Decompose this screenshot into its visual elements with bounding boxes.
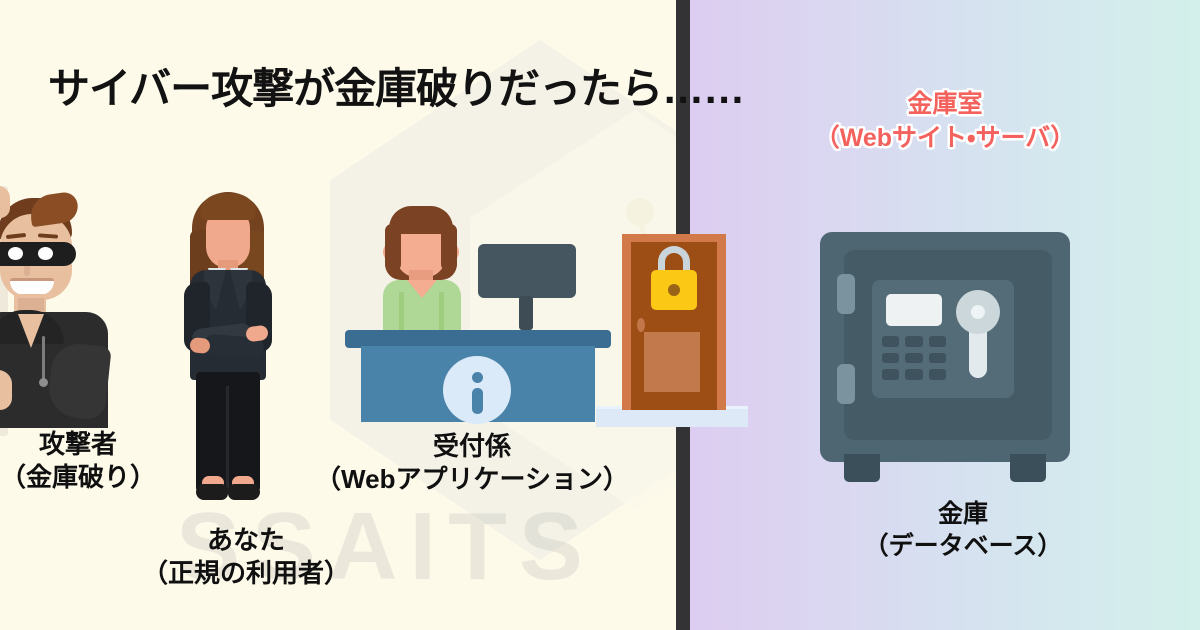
safe-keypad (882, 336, 946, 380)
safe-key (929, 369, 946, 380)
attacker-nose (24, 266, 30, 276)
receptionist-hair-side-left (385, 224, 401, 272)
safe-foot-left (844, 454, 880, 482)
reception-caption: 受付係 （Webアプリケーション） (312, 430, 632, 497)
safe-caption: 金庫 （データベース） (838, 498, 1088, 562)
receptionist-hair-side-right (441, 224, 457, 272)
locked-door-figure (622, 234, 726, 410)
attacker-grin (10, 278, 54, 295)
padlock-keyhole (668, 284, 680, 296)
monitor-stand (519, 296, 533, 330)
infographic-canvas: SSAITS サイバー攻撃が金庫破りだったら…… 金庫室 （Webサイト・サーバ… (0, 0, 1200, 630)
safe-key (882, 369, 899, 380)
attacker-hand-upper (0, 186, 10, 218)
user-trouser-seam (226, 386, 229, 490)
user-shoe-right (228, 484, 260, 500)
attacker-caption-line1: 攻撃者 (0, 428, 168, 461)
user-shoe-left (196, 484, 228, 500)
legitimate-user-figure (168, 186, 288, 504)
attacker-hair-sweep (28, 191, 80, 227)
user-hair-front (200, 194, 256, 220)
safe-display-screen (886, 294, 942, 326)
attacker-hoodie-string (42, 336, 45, 382)
safe-key (905, 336, 922, 347)
safe-key (905, 353, 922, 364)
reception-desk-figure (345, 196, 615, 424)
attacker-caption: 攻撃者 （金庫破り） (0, 428, 168, 495)
safe-key (905, 369, 922, 380)
information-icon-dot (472, 372, 483, 383)
user-caption-line2: （正規の利用者） (86, 557, 406, 590)
reception-caption-line2: （Webアプリケーション） (312, 463, 632, 496)
door-knob (637, 318, 645, 332)
vault-room-title-line2: （Webサイト・サーバ） (690, 122, 1200, 156)
user-caption-line1: あなた (86, 524, 406, 557)
safe-figure (820, 232, 1070, 488)
safe-dial-center (971, 305, 985, 319)
safe-hinge-bottom (837, 364, 855, 404)
safe-caption-line2: （データベース） (838, 530, 1088, 562)
safe-key (882, 336, 899, 347)
safe-key (929, 336, 946, 347)
attacker-figure (0, 186, 119, 426)
safe-key (929, 353, 946, 364)
attacker-eye-right (38, 247, 53, 260)
safe-caption-line1: 金庫 (838, 498, 1088, 530)
reception-caption-line1: 受付係 (312, 430, 632, 463)
legitimate-user-caption: あなた （正規の利用者） (86, 524, 406, 591)
monitor-icon (478, 244, 576, 298)
information-icon-stem (472, 388, 483, 414)
attacker-hoodie-string-knot (39, 378, 48, 387)
vault-room-title-line1: 金庫室 (690, 88, 1200, 122)
safe-key (882, 353, 899, 364)
attacker-caption-line2: （金庫破り） (0, 461, 168, 494)
safe-foot-right (1010, 454, 1046, 482)
attacker-eye-left (8, 247, 23, 260)
vault-room-title: 金庫室 （Webサイト・サーバ） (690, 88, 1200, 155)
safe-hinge-top (837, 274, 855, 314)
door-lower-panel (644, 332, 700, 392)
page-title: サイバー攻撃が金庫破りだったら…… (48, 55, 744, 116)
